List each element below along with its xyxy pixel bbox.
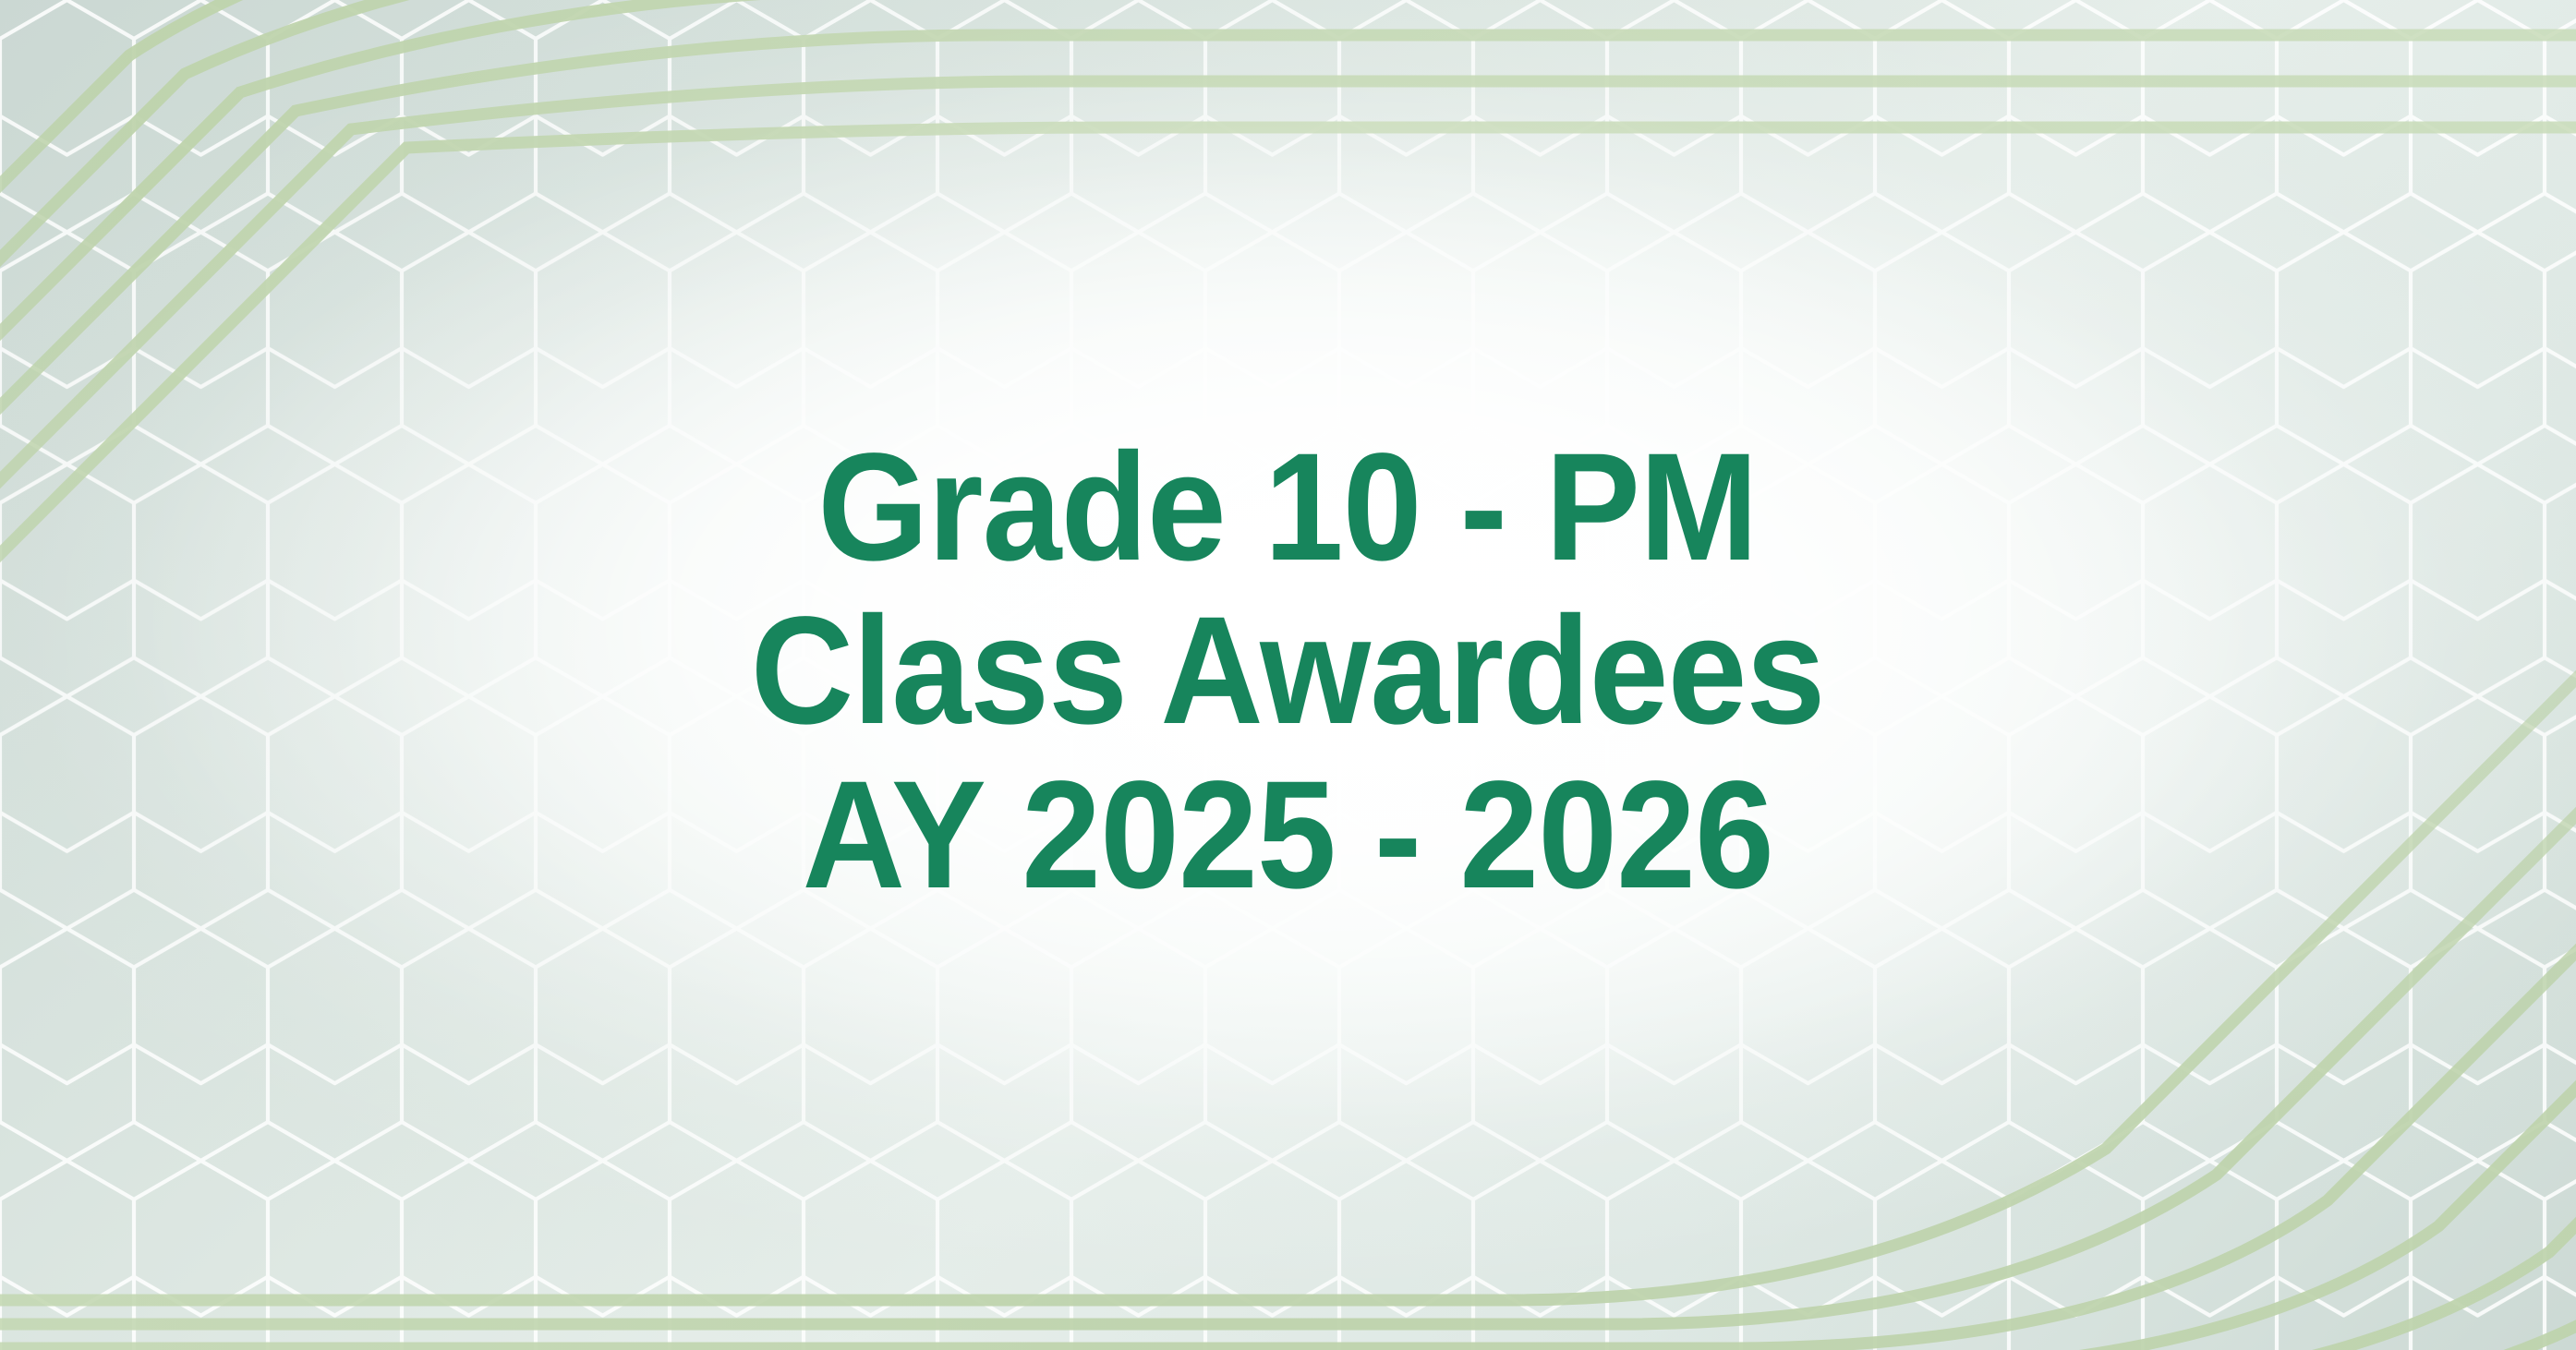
- headline-line-1: Grade 10 - PM: [818, 426, 1758, 590]
- headline-line-3: AY 2025 - 2026: [803, 753, 1773, 918]
- headline-block: Grade 10 - PM Class Awardees AY 2025 - 2…: [0, 0, 2576, 1350]
- title-card-banner: Grade 10 - PM Class Awardees AY 2025 - 2…: [0, 0, 2576, 1350]
- headline-line-2: Class Awardees: [751, 589, 1825, 753]
